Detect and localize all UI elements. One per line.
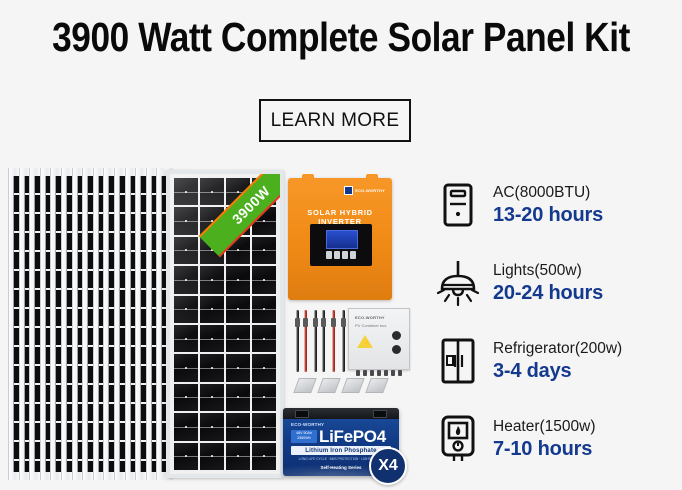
solar-cell	[200, 384, 224, 411]
solar-cell	[226, 325, 250, 352]
battery-top-cover	[283, 408, 399, 419]
battery-spec-text: 48V 50Ah 2560Wh	[291, 430, 317, 443]
promo-banner: 3900 Watt Complete Solar Panel Kit LEARN…	[0, 0, 682, 490]
feature-text-ac: AC(8000BTU) 13-20 hours	[493, 183, 603, 226]
page-title: 3900 Watt Complete Solar Panel Kit	[48, 14, 635, 61]
inverter-lcd-icon	[326, 230, 358, 249]
feature-label: Lights(500w)	[493, 261, 603, 280]
solar-cell	[226, 266, 250, 293]
front-solar-panel: 3900W	[166, 170, 284, 478]
solar-cell	[174, 384, 198, 411]
solar-cell	[174, 266, 198, 293]
refrigerator-icon	[436, 335, 480, 387]
feature-value: 7-10 hours	[493, 437, 596, 461]
solar-cell	[252, 413, 276, 440]
battery-terminal-icon	[373, 410, 387, 418]
solar-cell	[174, 325, 198, 352]
feature-row-lights: Lights(500w) 20-24 hours	[436, 244, 676, 322]
solar-cable-set	[296, 310, 348, 372]
solar-cell	[252, 296, 276, 323]
feature-value: 13-20 hours	[493, 203, 603, 227]
solar-cell	[200, 443, 224, 470]
solar-cell	[200, 325, 224, 352]
feature-row-refrigerator: Refrigerator(200w) 3-4 days	[436, 322, 676, 400]
solar-cell	[252, 237, 276, 264]
feature-label: Heater(1500w)	[493, 417, 596, 436]
solar-hybrid-inverter: ECO-WORTHY SOLAR HYBRID INVERTER	[288, 178, 392, 300]
feature-row-ac: AC(8000BTU) 13-20 hours	[436, 166, 676, 244]
feature-row-heater: Heater(1500w) 7-10 hours	[436, 400, 676, 478]
feature-text-refrigerator: Refrigerator(200w) 3-4 days	[493, 339, 622, 382]
feature-value: 20-24 hours	[493, 281, 603, 305]
runtime-feature-list: AC(8000BTU) 13-20 hours	[436, 166, 676, 478]
solar-cell	[200, 296, 224, 323]
feature-value: 3-4 days	[493, 359, 622, 383]
mounting-bracket-set	[296, 378, 386, 396]
inverter-keypad-icon	[326, 251, 356, 259]
combiner-knob-icon	[392, 345, 401, 354]
inverter-mount-tabs	[288, 174, 392, 179]
combiner-connectors	[349, 370, 409, 376]
battery-quantity-badge: X4	[369, 447, 407, 485]
solar-cell	[252, 266, 276, 293]
solar-cell	[174, 296, 198, 323]
battery-chemistry-text: LiFePO4	[319, 427, 386, 447]
combiner-knob-icon	[392, 331, 401, 340]
solar-cell	[252, 443, 276, 470]
battery-terminal-icon	[295, 410, 309, 418]
solar-cell	[174, 443, 198, 470]
solar-cell	[226, 296, 250, 323]
feature-text-lights: Lights(500w) 20-24 hours	[493, 261, 603, 304]
inverter-brand-logo: ECO-WORTHY	[344, 186, 385, 195]
learn-more-button[interactable]: LEARN MORE	[259, 99, 411, 142]
solar-cell	[252, 354, 276, 381]
combiner-brand-text: ECO-WORTHY	[355, 315, 385, 320]
solar-cell	[252, 325, 276, 352]
feature-label: AC(8000BTU)	[493, 183, 603, 202]
solar-cell	[252, 384, 276, 411]
solar-cell	[226, 413, 250, 440]
water-heater-icon	[436, 413, 480, 465]
solar-cell	[200, 178, 224, 205]
solar-cell	[226, 354, 250, 381]
high-voltage-warning-icon	[357, 335, 373, 348]
inverter-vent-icon	[296, 284, 384, 293]
solar-cell	[174, 207, 198, 234]
brand-mark-icon	[344, 186, 353, 195]
feature-text-heater: Heater(1500w) 7-10 hours	[493, 417, 596, 460]
solar-cell	[174, 178, 198, 205]
solar-cell	[174, 354, 198, 381]
solar-cell	[200, 354, 224, 381]
solar-panel-stack: 3900W	[8, 168, 286, 480]
solar-cell	[174, 413, 198, 440]
solar-cell	[200, 413, 224, 440]
pv-combiner-box: ECO-WORTHY PV Combiner box	[348, 308, 410, 370]
combiner-label-text: PV Combiner box	[355, 323, 386, 328]
solar-cell	[226, 384, 250, 411]
solar-cell	[200, 266, 224, 293]
pendant-light-icon	[436, 257, 480, 309]
solar-cell	[226, 443, 250, 470]
ac-unit-icon	[436, 179, 480, 231]
inverter-display-panel	[310, 224, 372, 266]
inverter-brand-text: ECO-WORTHY	[355, 188, 385, 193]
feature-label: Refrigerator(200w)	[493, 339, 622, 358]
solar-cell	[174, 237, 198, 264]
